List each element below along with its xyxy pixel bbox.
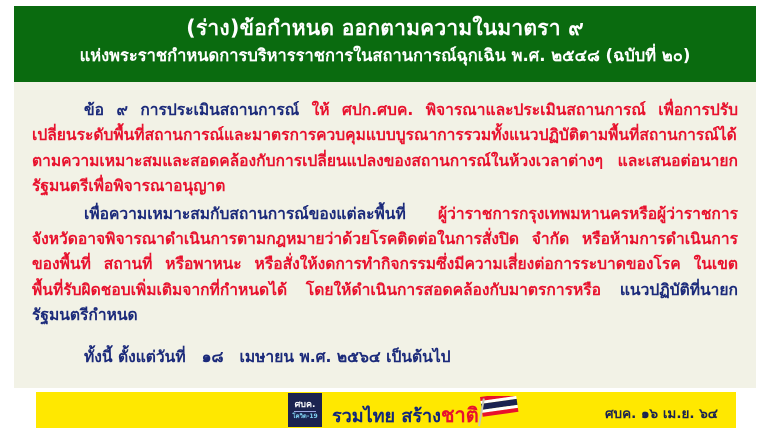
slogan-part-two: ชาติ [441, 403, 479, 427]
slogan-part-one: รวมไทย สร้าง [332, 406, 441, 427]
ccsa-logo-divider [294, 411, 316, 412]
clause-9-lead: ข้อ ๙ การประเมินสถานการณ์ [84, 101, 299, 119]
effective-date-prefix: ทั้งนี้ ตั้งแต่วันที่ [84, 348, 186, 366]
effective-date-day: ๑๘ [202, 348, 224, 366]
header-banner: (ร่าง)ข้อกำหนด ออกตามความในมาตรา ๙ แห่งพ… [14, 6, 756, 82]
slide-canvas: (ร่าง)ข้อกำหนด ออกตามความในมาตรา ๙ แห่งพ… [0, 0, 770, 432]
footer-date-text: ศบค. ๑๖ เม.ย. ๖๔ [605, 402, 718, 424]
provincial-lead: เพื่อความเหมาะสมกับสถานการณ์ของแต่ละพื้น… [84, 205, 406, 223]
paragraph-clause-9: ข้อ ๙ การประเมินสถานการณ์ ให้ ศปก.ศบค. พ… [32, 98, 738, 200]
ccsa-logo-bottom-text: โควิด-19 [292, 414, 317, 420]
footer-banner: ศบค. โควิด-19 รวมไทย สร้างชาติ [36, 392, 736, 428]
paragraph-provincial-authority: เพื่อความเหมาะสมกับสถานการณ์ของแต่ละพื้น… [32, 202, 738, 329]
document-body: ข้อ ๙ การประเมินสถานการณ์ ให้ ศปก.ศบค. พ… [14, 82, 756, 388]
ccsa-logo-top-text: ศบค. [295, 401, 316, 410]
campaign-slogan: รวมไทย สร้างชาติ [332, 399, 479, 431]
page-title: (ร่าง)ข้อกำหนด ออกตามความในมาตรา ๙ [14, 13, 756, 43]
effective-date-line: ทั้งนี้ ตั้งแต่วันที่๑๘เมษายน พ.ศ. ๒๕๖๔ … [32, 345, 738, 370]
effective-date-year-label: พ.ศ. [299, 348, 331, 366]
thai-flag-icon [476, 396, 522, 426]
effective-date-suffix: เป็นต้นไป [386, 348, 450, 366]
ccsa-logo-icon: ศบค. โควิด-19 [288, 393, 322, 427]
page-subtitle: แห่งพระราชกำหนดการบริหารราชการในสถานการณ… [14, 43, 756, 69]
effective-date-month: เมษายน [240, 348, 294, 366]
effective-date-year: ๒๕๖๔ [337, 348, 381, 366]
